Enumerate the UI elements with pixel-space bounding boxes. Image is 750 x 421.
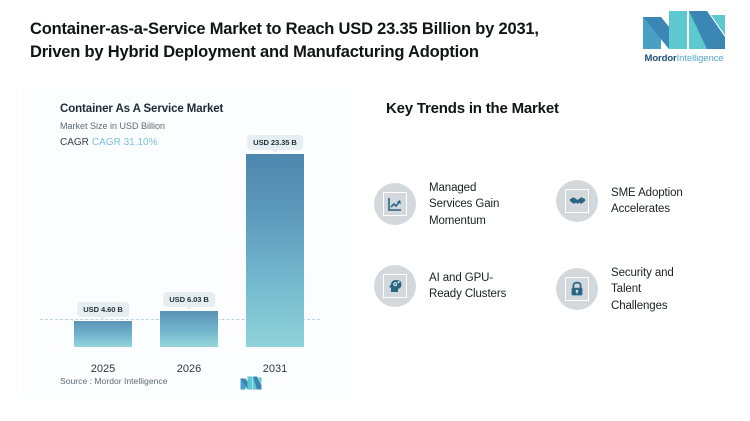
trend-icon-wrapper [374,183,416,225]
bar-2031[interactable] [246,154,304,347]
bar-value-badge: USD 23.35 B [247,135,303,150]
chart-source-text: Source : Mordor Intelligence [60,376,167,386]
trend-label-line-1: AI and GPU- [429,270,506,286]
trend-label-line-2: Services Gain [429,196,499,212]
trend-label-line-1: SME Adoption [611,185,683,201]
brand-wordmark-light: Intelligence [677,53,724,64]
trend-label: Security and Talent Challenges [611,265,674,314]
trend-item-sme-adoption[interactable]: SME Adoption Accelerates [556,180,732,222]
trend-label-line-2: Accelerates [611,201,683,217]
trend-label-line-3: Challenges [611,298,674,314]
trend-label: Managed Services Gain Momentum [429,180,499,229]
bar-2025[interactable] [74,321,132,347]
brand-logo: MordorIntelligence [636,9,732,67]
trend-icon-wrapper [374,265,416,307]
axis-label-2031: 2031 [246,363,304,375]
page-title-line-1: Container-as-a-Service Market to Reach U… [30,18,620,41]
trends-heading: Key Trends in the Market [386,100,559,117]
market-size-chart-panel: Container As A Service Market Market Siz… [22,88,352,398]
trend-label-line-3: Momentum [429,213,499,229]
page-title-line-2: Driven by Hybrid Deployment and Manufact… [30,41,620,64]
trend-label-line-2: Ready Clusters [429,286,506,302]
header: Container-as-a-Service Market to Reach U… [0,0,750,82]
trend-item-ai-gpu-clusters[interactable]: AI and GPU- Ready Clusters [374,265,550,307]
trend-item-managed-services[interactable]: Managed Services Gain Momentum [374,180,550,229]
bar-value-badge: USD 6.03 B [163,292,215,307]
bar-2026[interactable] [160,311,218,347]
axis-label-2026: 2026 [160,363,218,375]
bar-value-badge: USD 4.60 B [77,302,129,317]
brand-wordmark: MordorIntelligence [636,54,732,64]
trend-icon-wrapper [556,268,598,310]
trend-label: AI and GPU- Ready Clusters [429,270,506,303]
growth-chart-icon [383,192,407,216]
trend-label-line-2: Talent [611,281,674,297]
trend-icon-wrapper [556,180,598,222]
mordor-m-logo-icon [641,9,727,51]
brand-wordmark-bold: Mordor [645,53,677,64]
trend-label-line-1: Security and [611,265,674,281]
handshake-icon [565,189,589,213]
key-trends-panel: Key Trends in the Market Managed Service… [368,88,738,398]
padlock-icon [565,277,589,301]
ai-head-gear-icon [383,274,407,298]
trend-item-security-talent[interactable]: Security and Talent Challenges [556,265,732,314]
trend-label: SME Adoption Accelerates [611,185,683,218]
axis-label-2025: 2025 [74,363,132,375]
bar-chart-plot-area: USD 4.60 B 2025 USD 6.03 B 2026 USD 23.3… [22,88,352,398]
mordor-m-mark-icon [240,376,262,390]
page-title: Container-as-a-Service Market to Reach U… [30,18,620,65]
trend-label-line-1: Managed [429,180,499,196]
